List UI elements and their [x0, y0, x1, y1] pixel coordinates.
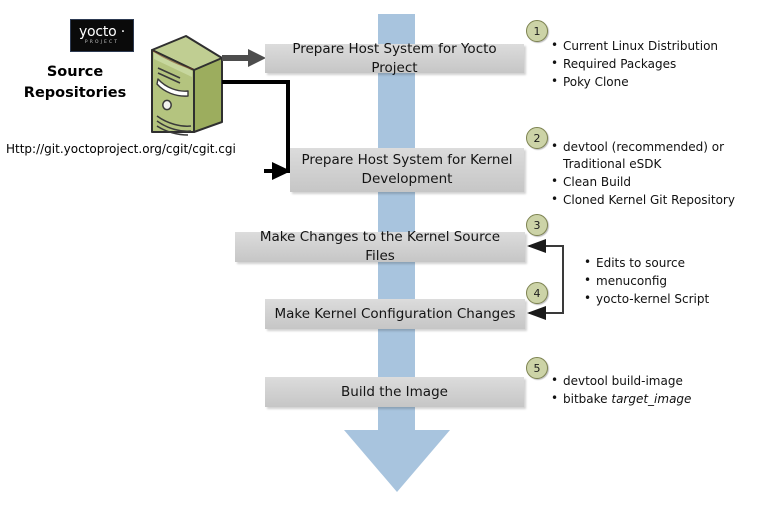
- box2-label-line1: Prepare Host System for Kernel: [301, 152, 512, 168]
- note-item: Poky Clone: [551, 74, 761, 91]
- box2-label: Prepare Host System for Kernel Developme…: [301, 151, 512, 189]
- box5-label: Build the Image: [341, 383, 448, 402]
- box2-label-line2: Development: [362, 171, 453, 187]
- note-item: yocto-kernel Script: [584, 291, 764, 308]
- notes-step-3-4: Edits to source menuconfig yocto-kernel …: [584, 255, 764, 309]
- notes-step-5: devtool build-image bitbake target_image: [551, 373, 761, 409]
- note-bitbake-target: target_image: [611, 392, 691, 406]
- notes-step-2: devtool (recommended) or Traditional eSD…: [551, 139, 765, 210]
- note-item: devtool (recommended) or Traditional eSD…: [551, 139, 765, 173]
- source-repository-url: Http://git.yoctoproject.org/cgit/cgit.cg…: [6, 142, 236, 156]
- step-badge-3: 3: [526, 214, 548, 236]
- step-badge-5: 5: [526, 357, 548, 379]
- step-badge-1: 1: [526, 20, 548, 42]
- box1-label: Prepare Host System for Yocto Project: [273, 40, 516, 78]
- note-item-text: devtool (recommended) or: [563, 140, 724, 154]
- step-badge-2: 2: [526, 127, 548, 149]
- diagram-canvas: yocto · PROJECT Source Repositories Http…: [0, 0, 769, 517]
- note-item: Cloned Kernel Git Repository: [551, 192, 765, 209]
- note-item: Current Linux Distribution: [551, 38, 761, 55]
- process-box-prepare-host-kernel[interactable]: Prepare Host System for Kernel Developme…: [290, 148, 524, 192]
- note-item: devtool build-image: [551, 373, 761, 390]
- step-badge-4: 4: [526, 282, 548, 304]
- source-label-line1: Source: [10, 62, 140, 83]
- notes-step-1: Current Linux Distribution Required Pack…: [551, 38, 761, 92]
- note-item: menuconfig: [584, 273, 764, 290]
- note-bitbake-prefix: bitbake: [563, 392, 611, 406]
- note-item-continuation: Traditional eSDK: [563, 156, 765, 173]
- source-label-line2: Repositories: [10, 83, 140, 104]
- note-item: Edits to source: [584, 255, 764, 272]
- yocto-logo-subtitle: PROJECT: [85, 40, 119, 46]
- process-box-build-the-image[interactable]: Build the Image: [265, 377, 524, 407]
- note-item: Clean Build: [551, 174, 765, 191]
- yocto-project-logo: yocto · PROJECT: [70, 19, 134, 52]
- process-box-prepare-host-yocto[interactable]: Prepare Host System for Yocto Project: [265, 44, 524, 73]
- process-box-make-kernel-source-changes[interactable]: Make Changes to the Kernel Source Files: [235, 232, 525, 262]
- server-icon: [136, 32, 226, 137]
- source-repositories-label: Source Repositories: [10, 62, 140, 104]
- box4-label: Make Kernel Configuration Changes: [274, 305, 515, 324]
- process-box-make-kernel-config-changes[interactable]: Make Kernel Configuration Changes: [265, 299, 525, 329]
- note-item: bitbake target_image: [551, 391, 761, 408]
- note-item: Required Packages: [551, 56, 761, 73]
- yocto-logo-word: yocto ·: [79, 25, 125, 39]
- box3-label: Make Changes to the Kernel Source Files: [243, 228, 517, 266]
- flow-arrow-head: [344, 430, 450, 492]
